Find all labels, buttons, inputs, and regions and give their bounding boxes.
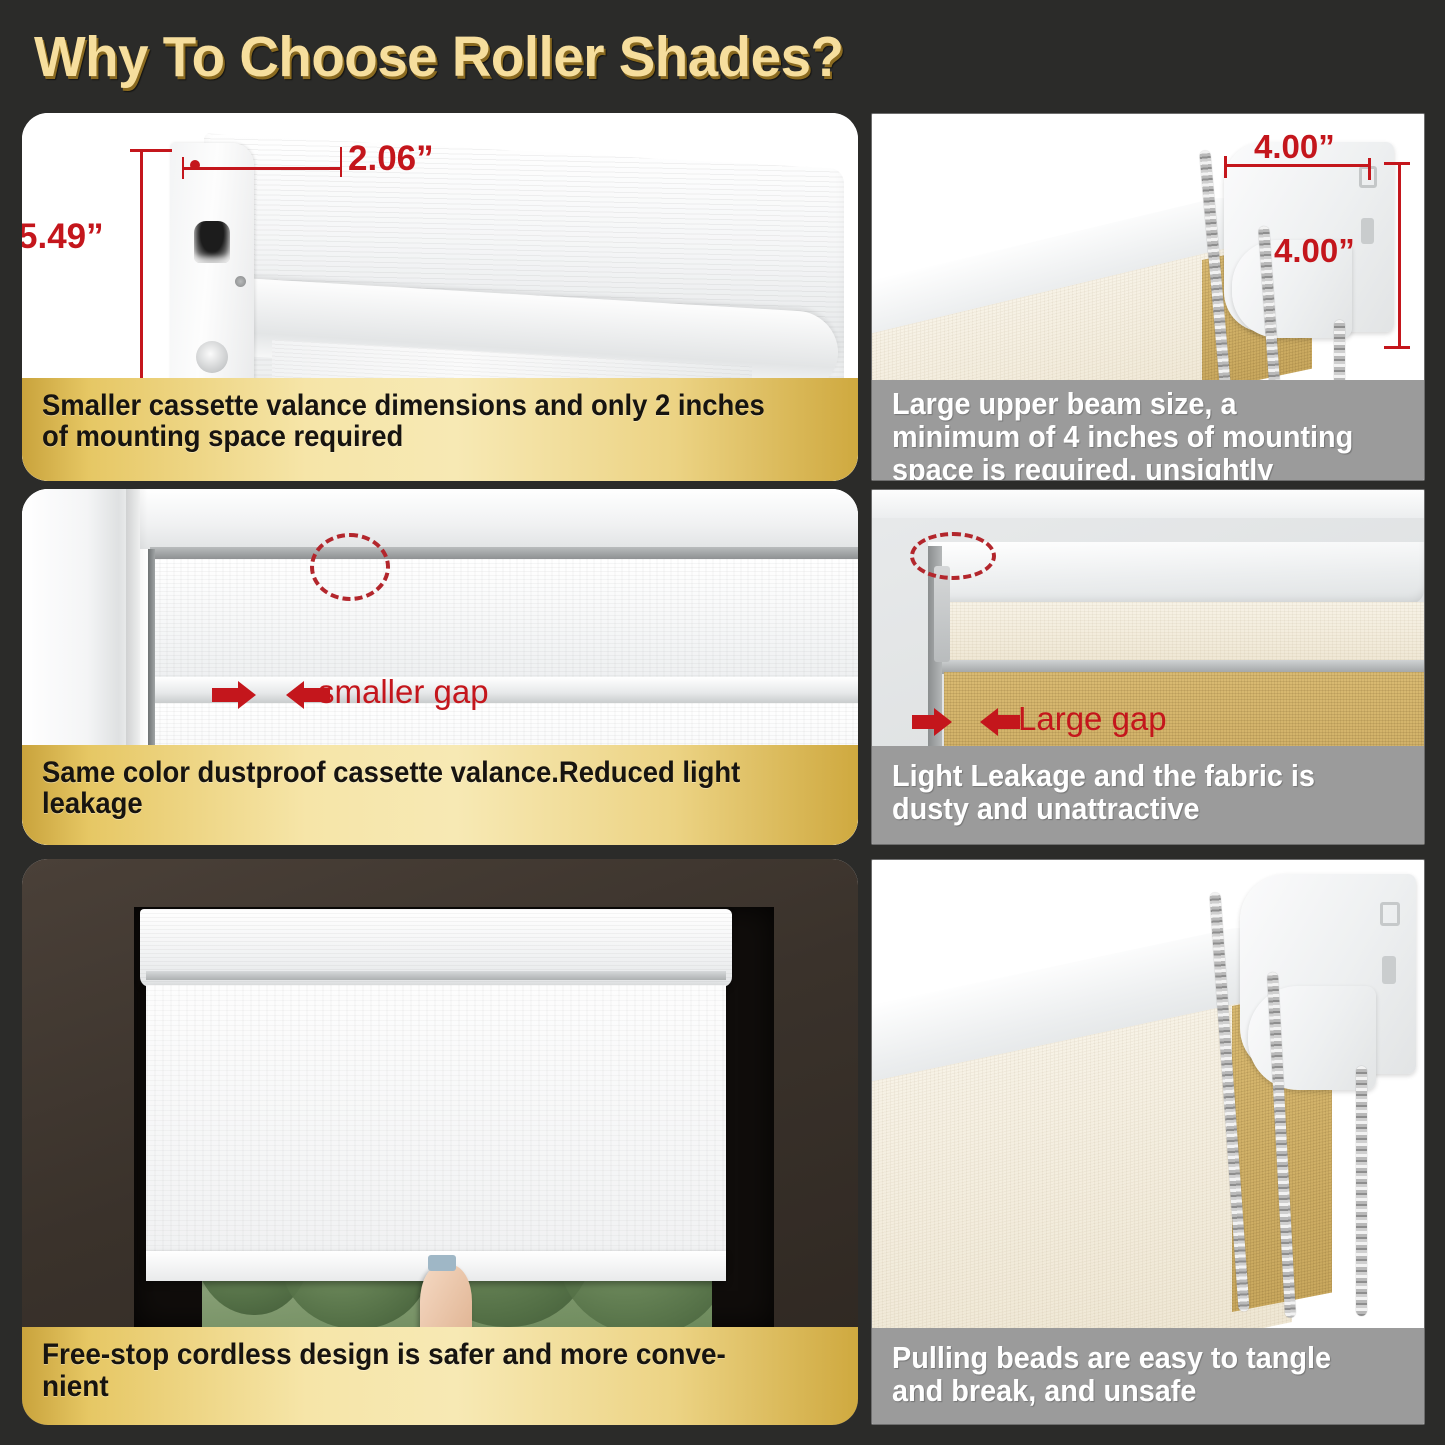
panel-cordless-design: Free-stop cordless design is safer and m… [22, 859, 858, 1425]
panel-3-caption-text: Same color dustproof cassette valance.Re… [42, 757, 786, 820]
panel-2-caption-text: Large upper beam size, a minimum of 4 in… [892, 388, 1372, 481]
corner-highlight-circle [910, 532, 996, 580]
panel-2-caption-bar: Large upper beam size, a minimum of 4 in… [872, 380, 1424, 480]
panel-smaller-cassette: 2.06” 5.49” Smaller cassette valance dim… [22, 113, 858, 481]
dimension-label-beam-width: 4.00” [1254, 128, 1335, 166]
panel-4-caption-text: Light Leakage and the fabric is dusty an… [892, 760, 1372, 826]
gap-callout-label: Large gap [1018, 700, 1167, 738]
panel-1-caption-bar: Smaller cassette valance dimensions and … [22, 378, 858, 481]
screw-icon [235, 276, 246, 287]
panel-light-leakage: Large gap Light Leakage and the fabric i… [871, 489, 1425, 845]
panel-5-caption-text: Free-stop cordless design is safer and m… [42, 1339, 786, 1403]
shade-fabric [146, 985, 726, 1265]
dimension-label-beam-height: 4.00” [1274, 232, 1355, 270]
panel-large-upper-beam: 4.00” 4.00” Large upper beam size, a min… [871, 113, 1425, 481]
panel-6-caption-bar: Pulling beads are easy to tangle and bre… [872, 1328, 1424, 1424]
dimension-label-height: 5.49” [22, 217, 104, 257]
panel-1-caption-text: Smaller cassette valance dimensions and … [42, 390, 786, 453]
dimension-label-width: 2.06” [348, 139, 434, 179]
valance-bracket-slot [194, 221, 230, 263]
beaded-chain[interactable] [1356, 1066, 1367, 1316]
gap-callout-label: smaller gap [318, 673, 489, 711]
panel-5-caption-bar: Free-stop cordless design is safer and m… [22, 1327, 858, 1425]
panel-6-caption-text: Pulling beads are easy to tangle and bre… [892, 1342, 1372, 1408]
valance-screw-boss [196, 341, 228, 373]
corner-highlight-circle [310, 533, 390, 601]
panel-4-caption-bar: Light Leakage and the fabric is dusty an… [872, 746, 1424, 844]
page-title: Why To Choose Roller Shades? [34, 22, 994, 92]
panel-3-caption-bar: Same color dustproof cassette valance.Re… [22, 745, 858, 845]
panel-dustproof-valance: smaller gap Same color dustproof cassett… [22, 489, 858, 845]
panel-pulling-beads: Pulling beads are easy to tangle and bre… [871, 859, 1425, 1425]
